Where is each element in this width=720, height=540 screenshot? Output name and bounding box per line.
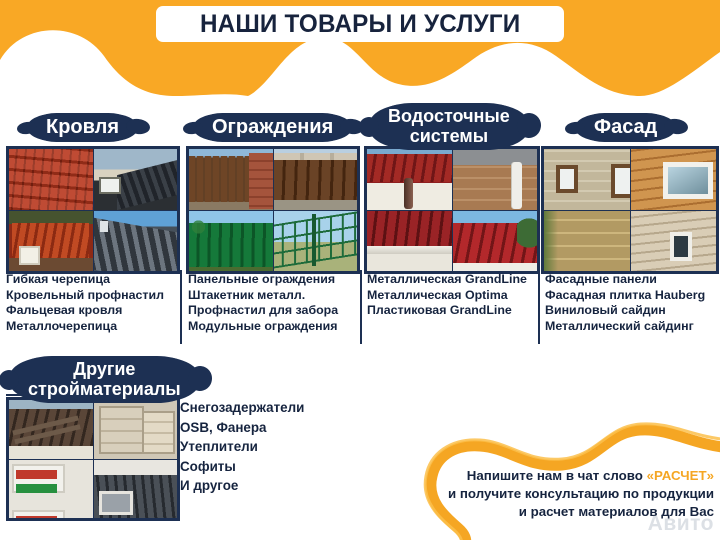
photo-red-cottage-roof [9,211,93,272]
poster-canvas: НАШИ ТОВАРЫ И УСЛУГИ Кровля Гибкая череп… [0,0,720,540]
photo-gutter-brick-wall [453,149,538,210]
photo-standing-seam-roof [94,211,178,272]
ink-splash-badge: Водосточные системы [372,103,526,150]
photo-green-profile-fence [189,211,273,272]
list-item: Профнастил для забора [188,303,363,319]
photo-grid-fencing [186,146,360,274]
list-divider-3 [538,270,540,344]
list-item: Виниловый сайдин [545,303,720,319]
photo-snow-guards [9,400,93,459]
list-item: Гибкая черепица [6,272,178,288]
photo-beige-brick [544,211,630,272]
ink-splash-badge: Другие стройматериалы [12,356,197,403]
item-list-other: Снегозадержатели OSB, Фанера Утеплители … [180,398,356,496]
list-item: Кровельный профнастил [6,288,178,304]
category-title-other-line2: стройматериалы [28,379,181,399]
list-item: Металлочерепица [6,319,178,335]
photo-dark-metal-roof [94,149,178,210]
photo-grid-drainage [364,146,540,274]
list-item: Штакетник металл. [188,288,363,304]
list-item: Софиты [180,457,356,477]
photo-metal-siding [631,211,717,272]
photo-grid-facade [541,146,719,274]
list-item: Фальцевая кровля [6,303,178,319]
list-item: Панельные ограждения [188,272,363,288]
photo-red-roof-gutter [367,149,452,210]
page-title: НАШИ ТОВАРЫ И УСЛУГИ [200,12,520,37]
photo-brown-profile-fence [274,149,358,210]
photo-wood-siding [631,149,717,210]
category-heading-fencing: Ограждения [196,113,349,142]
category-title-facade: Фасад [594,116,657,138]
item-list-fencing: Панельные ограждения Штакетник металл. П… [188,272,363,334]
list-item: Снегозадержатели [180,398,356,418]
ink-splash-badge: Ограждения [196,113,349,142]
cta-line-3: и расчет материалов для Вас [384,503,714,521]
cta-text-block: Напишите нам в чат слово «РАСЧЕТ» и полу… [384,467,714,521]
list-item: OSB, Фанера [180,418,356,438]
category-heading-other: Другие стройматериалы [12,356,197,403]
category-heading-roofing: Кровля [30,113,135,142]
item-list-facade: Фасадные панели Фасадная плитка Hauberg … [545,272,720,334]
list-item: Металлический сайдинг [545,319,720,335]
photo-soffits [94,460,178,519]
photo-grid-other [6,397,180,521]
list-item: Фасадные панели [545,272,720,288]
photo-brown-louvre-fence [189,149,273,210]
cta-line-1-text: Напишите нам в чат слово [467,468,647,483]
photo-dark-red-gutter [367,211,452,272]
ink-splash-badge: Фасад [578,113,673,142]
category-heading-facade: Фасад [578,113,673,142]
list-item: Модульные ограждения [188,319,363,335]
photo-tile-roof [9,149,93,210]
cta-line-2: и получите консультацию по продукции [384,485,714,503]
photo-osb-plywood [94,400,178,459]
category-title-roofing: Кровля [46,116,119,138]
list-divider-1 [180,270,182,344]
category-title-drainage-line2: системы [388,126,510,146]
category-title-fencing: Ограждения [212,116,333,138]
list-divider-2 [360,270,362,344]
photo-grid-roofing [6,146,180,274]
item-list-roofing: Гибкая черепица Кровельный профнастил Фа… [6,272,178,334]
list-item: И другое [180,476,356,496]
page-title-pill: НАШИ ТОВАРЫ И УСЛУГИ [156,6,564,42]
photo-red-tile-sky [453,211,538,272]
list-item: Утеплители [180,437,356,457]
cta-keyword: «РАСЧЕТ» [647,468,714,483]
list-item: Металлическая Optima [367,288,545,304]
category-title-other-line1: Другие [28,359,181,379]
cta-line-1: Напишите нам в чат слово «РАСЧЕТ» [384,467,714,485]
list-item: Металлическая GrandLine [367,272,545,288]
category-heading-drainage: Водосточные системы [372,103,526,150]
photo-insulation-packs [9,460,93,519]
item-list-drainage: Металлическая GrandLine Металлическая Op… [367,272,545,319]
list-item: Фасадная плитка Hauberg [545,288,720,304]
photo-green-mesh-fence [274,211,358,272]
photo-stone-facade [544,149,630,210]
category-title-drainage-line1: Водосточные [388,106,510,126]
ink-splash-badge: Кровля [30,113,135,142]
list-item: Пластиковая GrandLine [367,303,545,319]
